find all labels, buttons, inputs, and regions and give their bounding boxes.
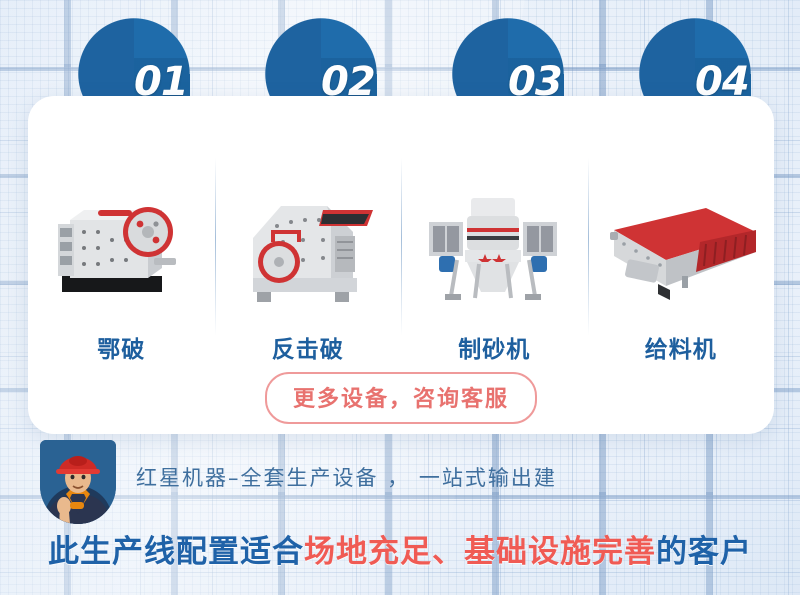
more-equipment-button[interactable]: 更多设备，咨询客服 [265, 372, 537, 424]
product-card-label: 给料机 [645, 330, 717, 364]
sand-making-machine-photo [409, 180, 579, 320]
product-card-label: 反击破 [272, 330, 344, 364]
headline-part2: 的客户 [656, 534, 752, 570]
product-card-row: 鄂破 [28, 96, 774, 368]
vibrating-feeder-photo [596, 180, 766, 320]
product-card-jaw-crusher[interactable]: 鄂破 [28, 96, 215, 368]
product-panel: 鄂破 [28, 96, 774, 434]
headline-part1: 此生产线配置适合 [48, 534, 304, 570]
avatar [40, 440, 116, 524]
product-card-feeder[interactable]: 给料机 [588, 96, 775, 368]
tagline: 红星机器–全套生产设备 ， 一站式输出建 [136, 462, 557, 492]
product-card-label: 鄂破 [97, 330, 145, 364]
product-card-impact-crusher[interactable]: 反击破 [215, 96, 402, 368]
infographic-stage: 01 02 03 04 [0, 0, 800, 595]
product-card-label: 制砂机 [458, 330, 530, 364]
jaw-crusher-photo [36, 180, 206, 320]
headline-highlight: 场地充足、基础设施完善 [304, 534, 656, 570]
cta-row: 更多设备，咨询客服 [28, 372, 774, 424]
impact-crusher-photo [223, 180, 393, 320]
product-card-sand-maker[interactable]: 制砂机 [401, 96, 588, 368]
headline: 此生产线配置适合场地充足、基础设施完善的客户 [0, 526, 800, 571]
